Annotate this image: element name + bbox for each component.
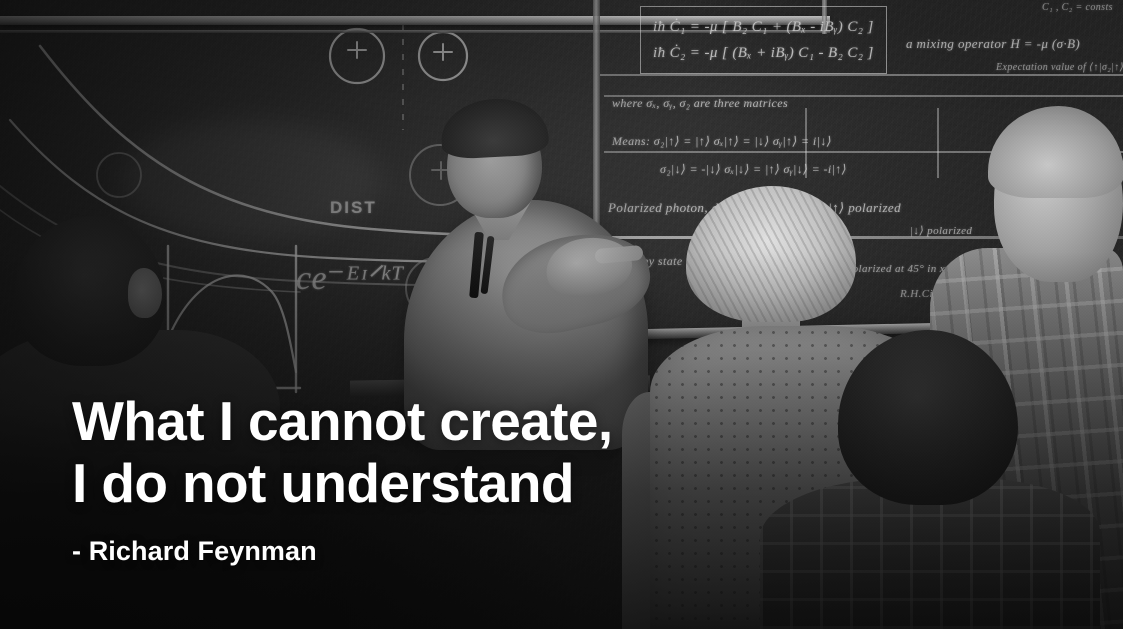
quote-text: What I cannot create, I do not understan… — [72, 390, 832, 514]
text-overlay: What I cannot create, I do not understan… — [0, 0, 1123, 629]
quote-attribution: - Richard Feynman — [72, 536, 1123, 567]
quote-line-1: What I cannot create, — [72, 390, 832, 452]
quote-card: iħ Ċ₁ = -μ [ B₂ C₁ + (Bₓ - iBᵧ) C₂ ] iħ … — [0, 0, 1123, 629]
quote-line-2: I do not understand — [72, 452, 832, 514]
